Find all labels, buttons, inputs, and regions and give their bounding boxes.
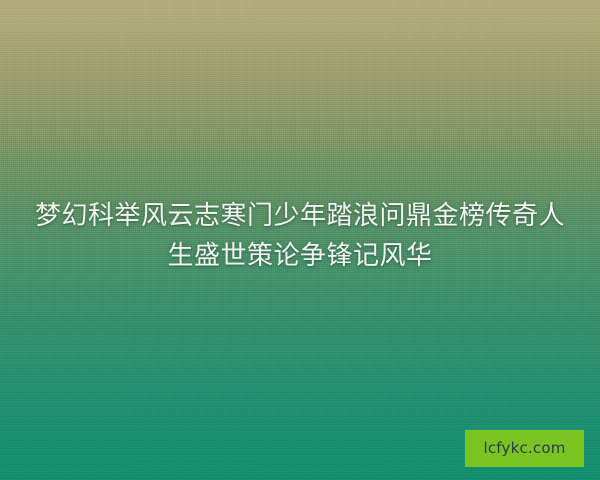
headline-text: 梦幻科举风云志寒门少年踏浪问鼎金榜传奇人生盛世策论争锋记风华: [22, 196, 578, 276]
site-watermark-badge[interactable]: lcfykc.com: [465, 430, 584, 467]
site-watermark-label: lcfykc.com: [483, 441, 565, 456]
banner-image: 梦幻科举风云志寒门少年踏浪问鼎金榜传奇人生盛世策论争锋记风华 lcfykc.co…: [0, 0, 600, 480]
headline-container: 梦幻科举风云志寒门少年踏浪问鼎金榜传奇人生盛世策论争锋记风华: [0, 196, 600, 276]
